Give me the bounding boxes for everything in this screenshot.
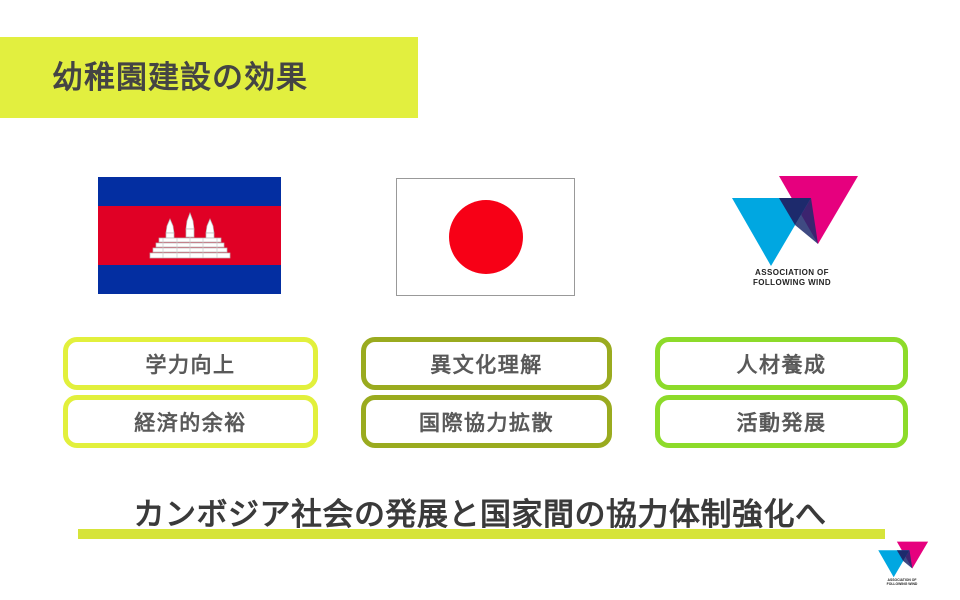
- effect-box-cross-cultural-understanding[interactable]: 異文化理解: [361, 337, 612, 390]
- afw-logo-caption-line2: FOLLOWING WIND: [722, 278, 862, 288]
- effect-box-human-resource-development[interactable]: 人材養成: [655, 337, 908, 390]
- afw-logo-caption: ASSOCIATION OF FOLLOWING WIND: [722, 268, 862, 288]
- effect-box-activity-growth[interactable]: 活動発展: [655, 395, 908, 448]
- effect-box-international-cooperation[interactable]: 国際協力拡散: [361, 395, 612, 448]
- corner-afw-logo: ASSOCIATION OF FOLLOWING WIND: [874, 540, 930, 590]
- afw-logo: ASSOCIATION OF FOLLOWING WIND: [722, 172, 862, 294]
- hinomaru-disc: [449, 200, 523, 274]
- slide-canvas: 幼稚園建設の効果: [0, 0, 960, 600]
- page-title: 幼稚園建設の効果: [52, 52, 308, 97]
- cambodia-flag-icon: [98, 177, 281, 294]
- corner-afw-logo-caption-line2: FOLLOWING WIND: [874, 582, 930, 586]
- effect-box-economic-margin[interactable]: 経済的余裕: [63, 395, 318, 448]
- effect-box-academic-improvement[interactable]: 学力向上: [63, 337, 318, 390]
- afw-triangles-icon: [722, 172, 862, 268]
- corner-afw-logo-caption: ASSOCIATION OF FOLLOWING WIND: [874, 578, 930, 587]
- angkor-wat-emblem-icon: [147, 211, 233, 261]
- corner-afw-triangles-icon: [874, 540, 930, 578]
- afw-logo-caption-line1: ASSOCIATION OF: [722, 268, 862, 278]
- conclusion-underline-bar: [78, 529, 885, 539]
- conclusion-text: カンボジア社会の発展と国家間の協力体制強化へ: [0, 489, 960, 534]
- japan-flag-icon: [396, 178, 575, 296]
